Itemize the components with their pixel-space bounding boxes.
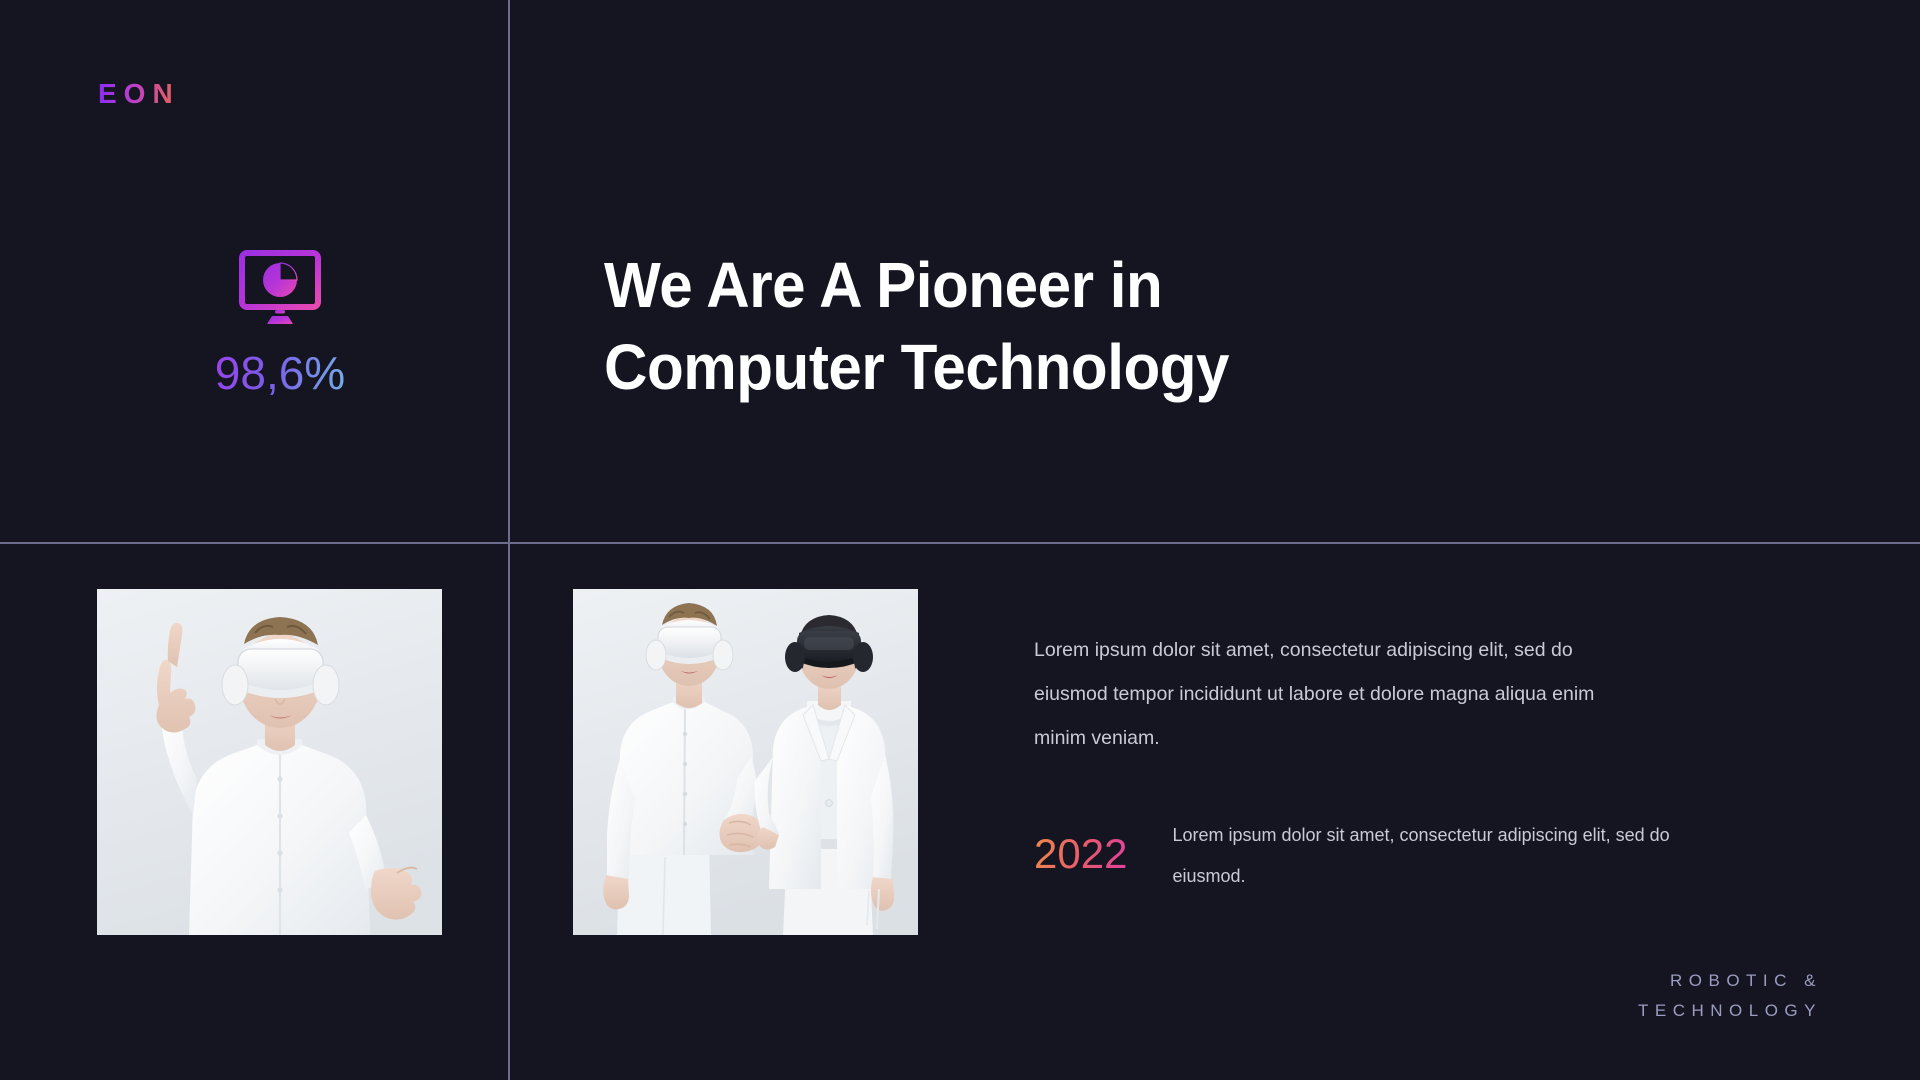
footer-tagline: ROBOTIC & TECHNOLOGY (1638, 966, 1822, 1026)
page-title: We Are A Pioneer in Computer Technology (604, 245, 1318, 409)
vr-man-pointing-photo (97, 589, 442, 935)
headline-line-2: Computer Technology (604, 327, 1318, 409)
milestone-row: 2022 Lorem ipsum dolor sit amet, consect… (1034, 815, 1684, 898)
vertical-divider (508, 0, 510, 1080)
horizontal-divider (0, 542, 1920, 544)
brand-logo[interactable]: EON (98, 78, 180, 110)
vr-couple-illustration (573, 589, 918, 935)
body-paragraph: Lorem ipsum dolor sit amet, consectetur … (1034, 628, 1634, 760)
stat-value: 98,6% (190, 350, 370, 396)
monitor-pie-chart-icon (239, 250, 321, 328)
footer-tagline-line-1: ROBOTIC & (1638, 966, 1822, 996)
milestone-year: 2022 (1034, 815, 1127, 877)
stat-block: 98,6% (190, 250, 370, 396)
vr-couple-photo (573, 589, 918, 935)
vr-man-pointing-illustration (97, 589, 442, 935)
milestone-text: Lorem ipsum dolor sit amet, consectetur … (1172, 815, 1684, 898)
slide-canvas: EON (0, 0, 1920, 1080)
footer-tagline-line-2: TECHNOLOGY (1638, 996, 1822, 1026)
headline-line-1: We Are A Pioneer in (604, 245, 1318, 327)
